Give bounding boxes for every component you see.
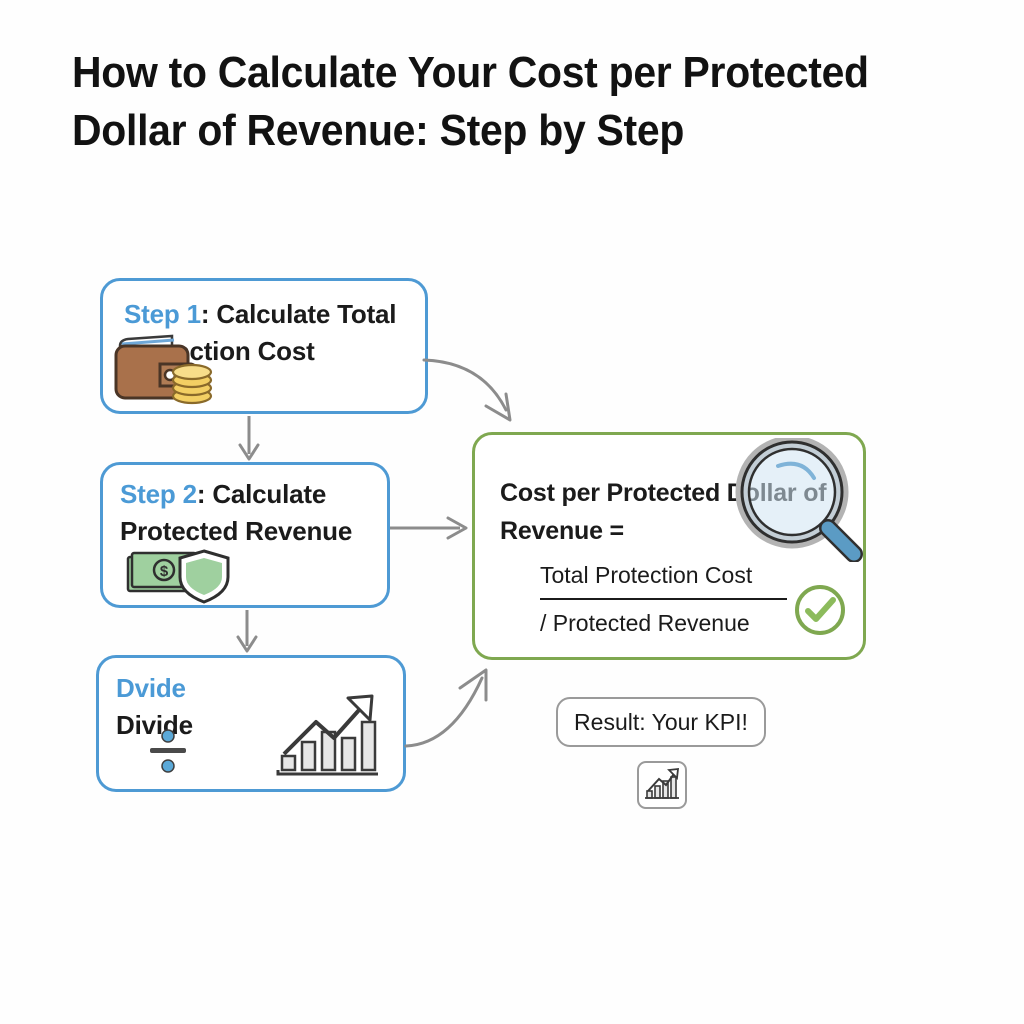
magnifier-icon: [734, 438, 870, 562]
step-2-text: Step 2: Calculate Protected Revenue: [120, 476, 400, 550]
arrow-step3-to-formula: [404, 660, 514, 760]
formula-numerator: Total Protection Cost: [540, 556, 800, 596]
result-growth-chart-icon: [644, 767, 680, 801]
divide-symbol-icon: [148, 728, 188, 776]
step-2-label: Step 2: [120, 479, 197, 509]
result-text: Result: Your KPI!: [556, 697, 766, 747]
step-1-separator: :: [201, 299, 216, 329]
formula-denominator: / Protected Revenue: [540, 604, 800, 642]
arrow-step2-to-step3: [222, 608, 272, 656]
arrow-step2-to-formula: [388, 508, 478, 548]
svg-text:$: $: [160, 563, 169, 580]
arrow-step1-to-step2: [224, 414, 274, 464]
step-2-separator: :: [197, 479, 212, 509]
formula-fraction: Total Protection Cost / Protected Revenu…: [540, 556, 800, 642]
wallet-coins-icon: [110, 334, 222, 408]
money-shield-icon: $: [126, 545, 232, 605]
step-1-label: Step 1: [124, 299, 201, 329]
arrow-step1-to-formula: [420, 348, 540, 428]
fraction-bar: [540, 598, 787, 600]
page-title: How to Calculate Your Cost per Protected…: [72, 44, 872, 160]
growth-chart-icon: [276, 692, 380, 778]
infographic-canvas: How to Calculate Your Cost per Protected…: [0, 0, 1024, 1024]
check-circle-icon: [792, 582, 848, 638]
